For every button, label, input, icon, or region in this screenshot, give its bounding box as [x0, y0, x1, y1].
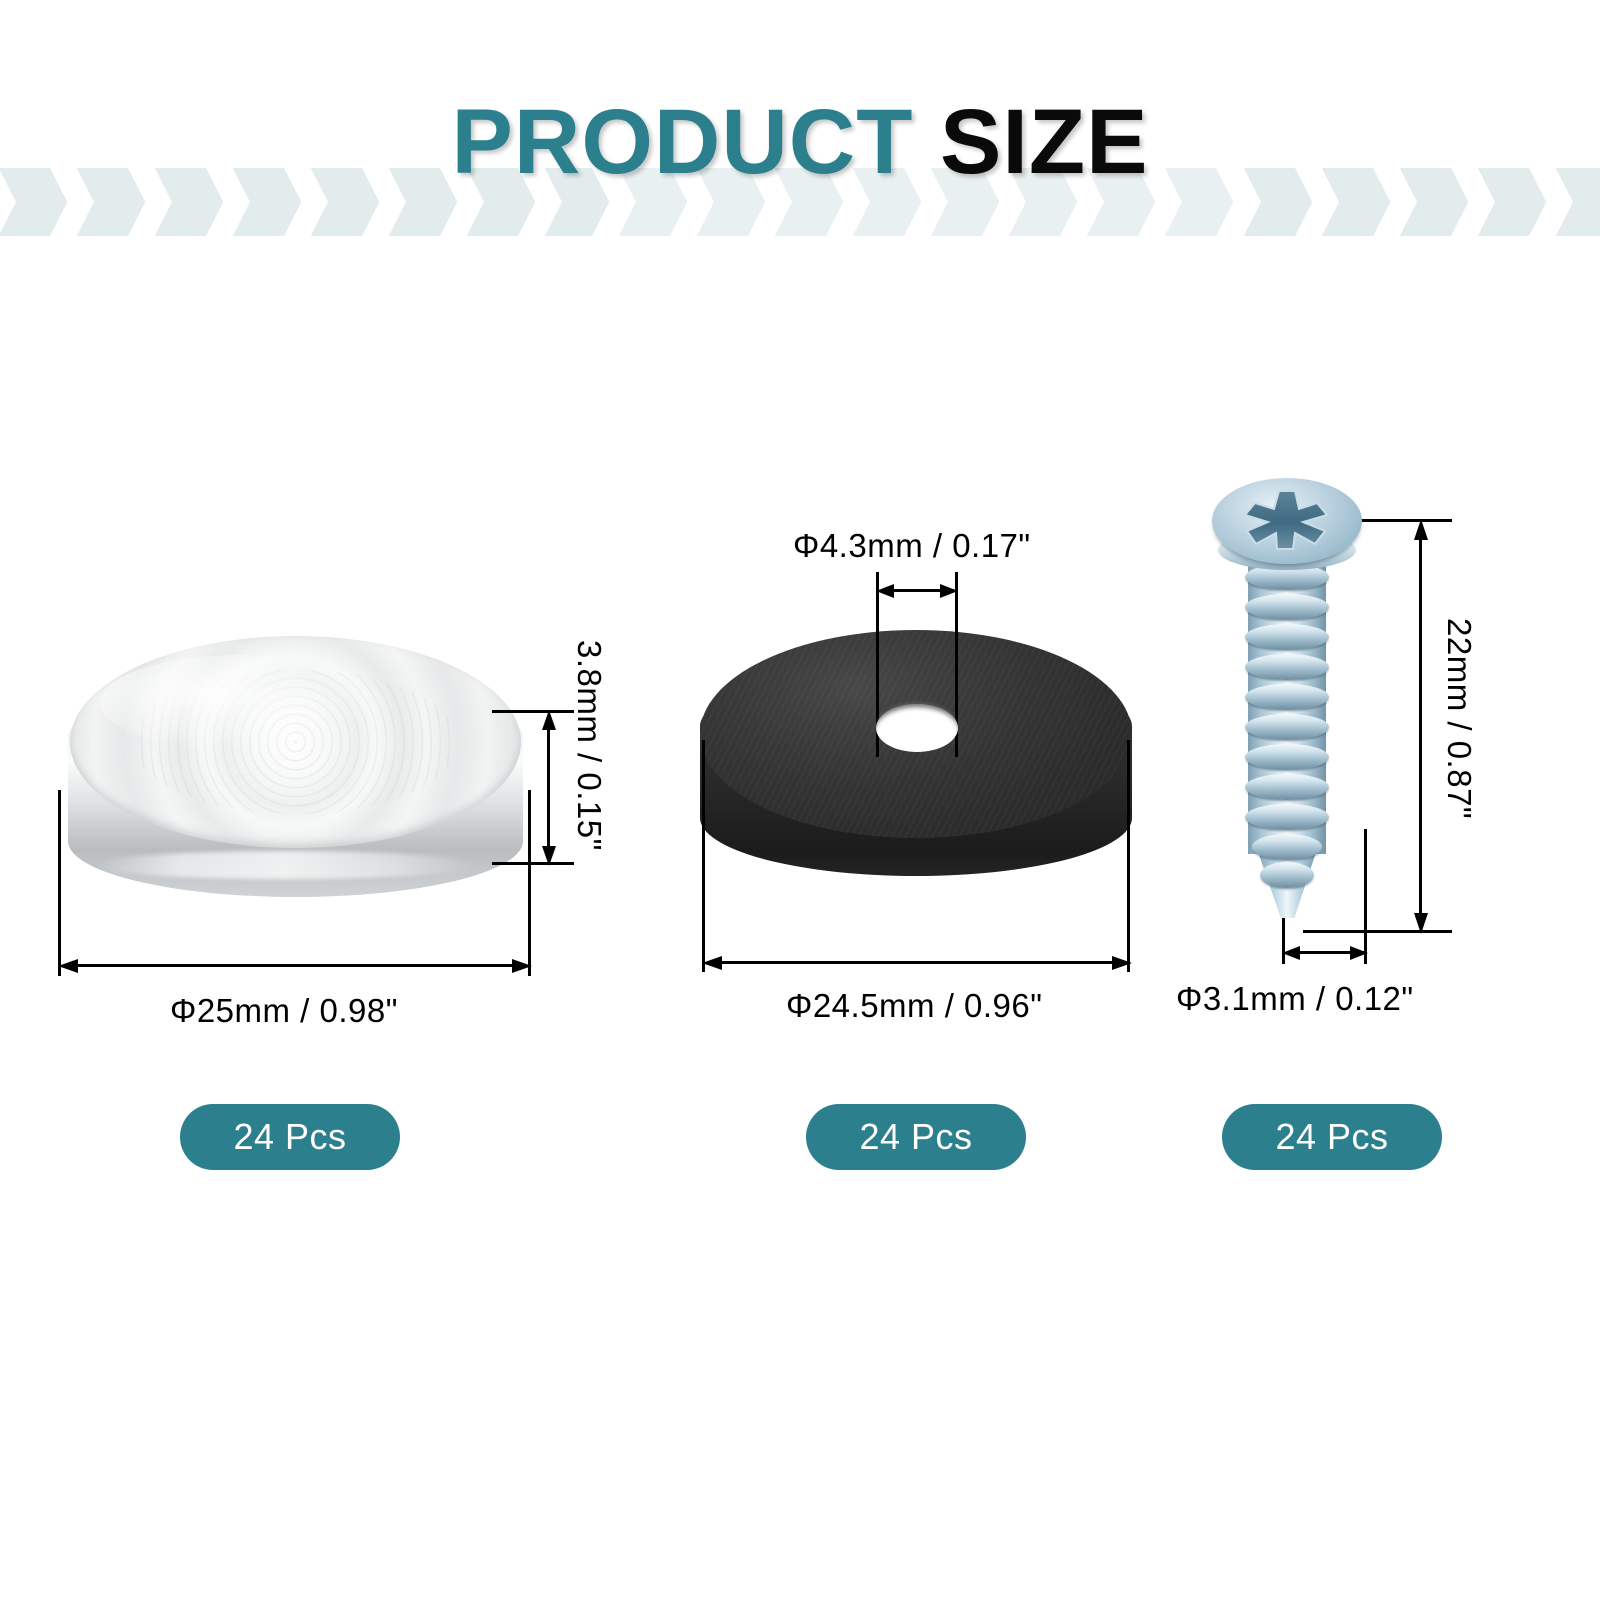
- screw-shaft-label: Φ3.1mm / 0.12": [1176, 980, 1414, 1018]
- cap-top-face: [70, 636, 521, 848]
- screw-thread: [1245, 624, 1329, 650]
- screw-shaft-arrowheads: [1282, 943, 1368, 963]
- washer-hole-label: Φ4.3mm / 0.17": [793, 527, 1031, 565]
- cap-thickness-arrowheads: [539, 710, 559, 866]
- product-stage: 3.8mm / 0.15" Φ25mm / 0.98" 24 Pcs Φ4.3m…: [0, 0, 1600, 1600]
- washer-diameter-ext-line-left: [702, 740, 705, 972]
- page-title-size: SIZE: [940, 91, 1148, 193]
- phillips-cross-slot-icon: [1243, 489, 1331, 551]
- cap-diameter-label: Φ25mm / 0.98": [170, 992, 398, 1030]
- washer-quantity-badge: 24 Pcs: [806, 1104, 1026, 1170]
- cap-diameter-arrowheads: [58, 956, 532, 976]
- washer-diameter-ext-line-right: [1127, 740, 1130, 972]
- cap-quantity-badge: 24 Pcs: [180, 1104, 400, 1170]
- screw-thread: [1245, 804, 1329, 830]
- cap-thickness-ext-line-bottom: [492, 862, 574, 865]
- screw-thread: [1245, 714, 1329, 740]
- screw-thread: [1252, 834, 1322, 860]
- screw-length-label: 22mm / 0.87": [1440, 618, 1478, 819]
- screw-length-ext-line-top: [1348, 519, 1452, 522]
- cap-thickness-ext-line-top: [492, 710, 574, 713]
- cap-thickness-label: 3.8mm / 0.15": [570, 640, 608, 851]
- screw-thread: [1245, 744, 1329, 770]
- washer-center-hole: [876, 704, 958, 752]
- screw-thread: [1245, 654, 1329, 680]
- washer-diameter-arrowheads: [702, 953, 1132, 973]
- screw-thread: [1260, 862, 1314, 888]
- black-flat-washer-icon: [700, 630, 1132, 895]
- screw-thread: [1245, 594, 1329, 620]
- screw-thread: [1245, 684, 1329, 710]
- screw-length-arrowheads: [1411, 519, 1431, 934]
- cap-diameter-ext-line-right: [528, 790, 531, 976]
- page-title-product: PRODUCT: [452, 91, 914, 193]
- phillips-pan-head-screw-icon: [1212, 478, 1362, 938]
- page-title: PRODUCT SIZE: [0, 96, 1600, 188]
- washer-diameter-label: Φ24.5mm / 0.96": [786, 987, 1042, 1025]
- screw-thread: [1245, 774, 1329, 800]
- cap-diameter-ext-line-left: [58, 790, 61, 976]
- screw-quantity-badge: 24 Pcs: [1222, 1104, 1442, 1170]
- stainless-steel-cap-icon: [68, 630, 523, 910]
- washer-hole-arrowheads: [876, 581, 958, 601]
